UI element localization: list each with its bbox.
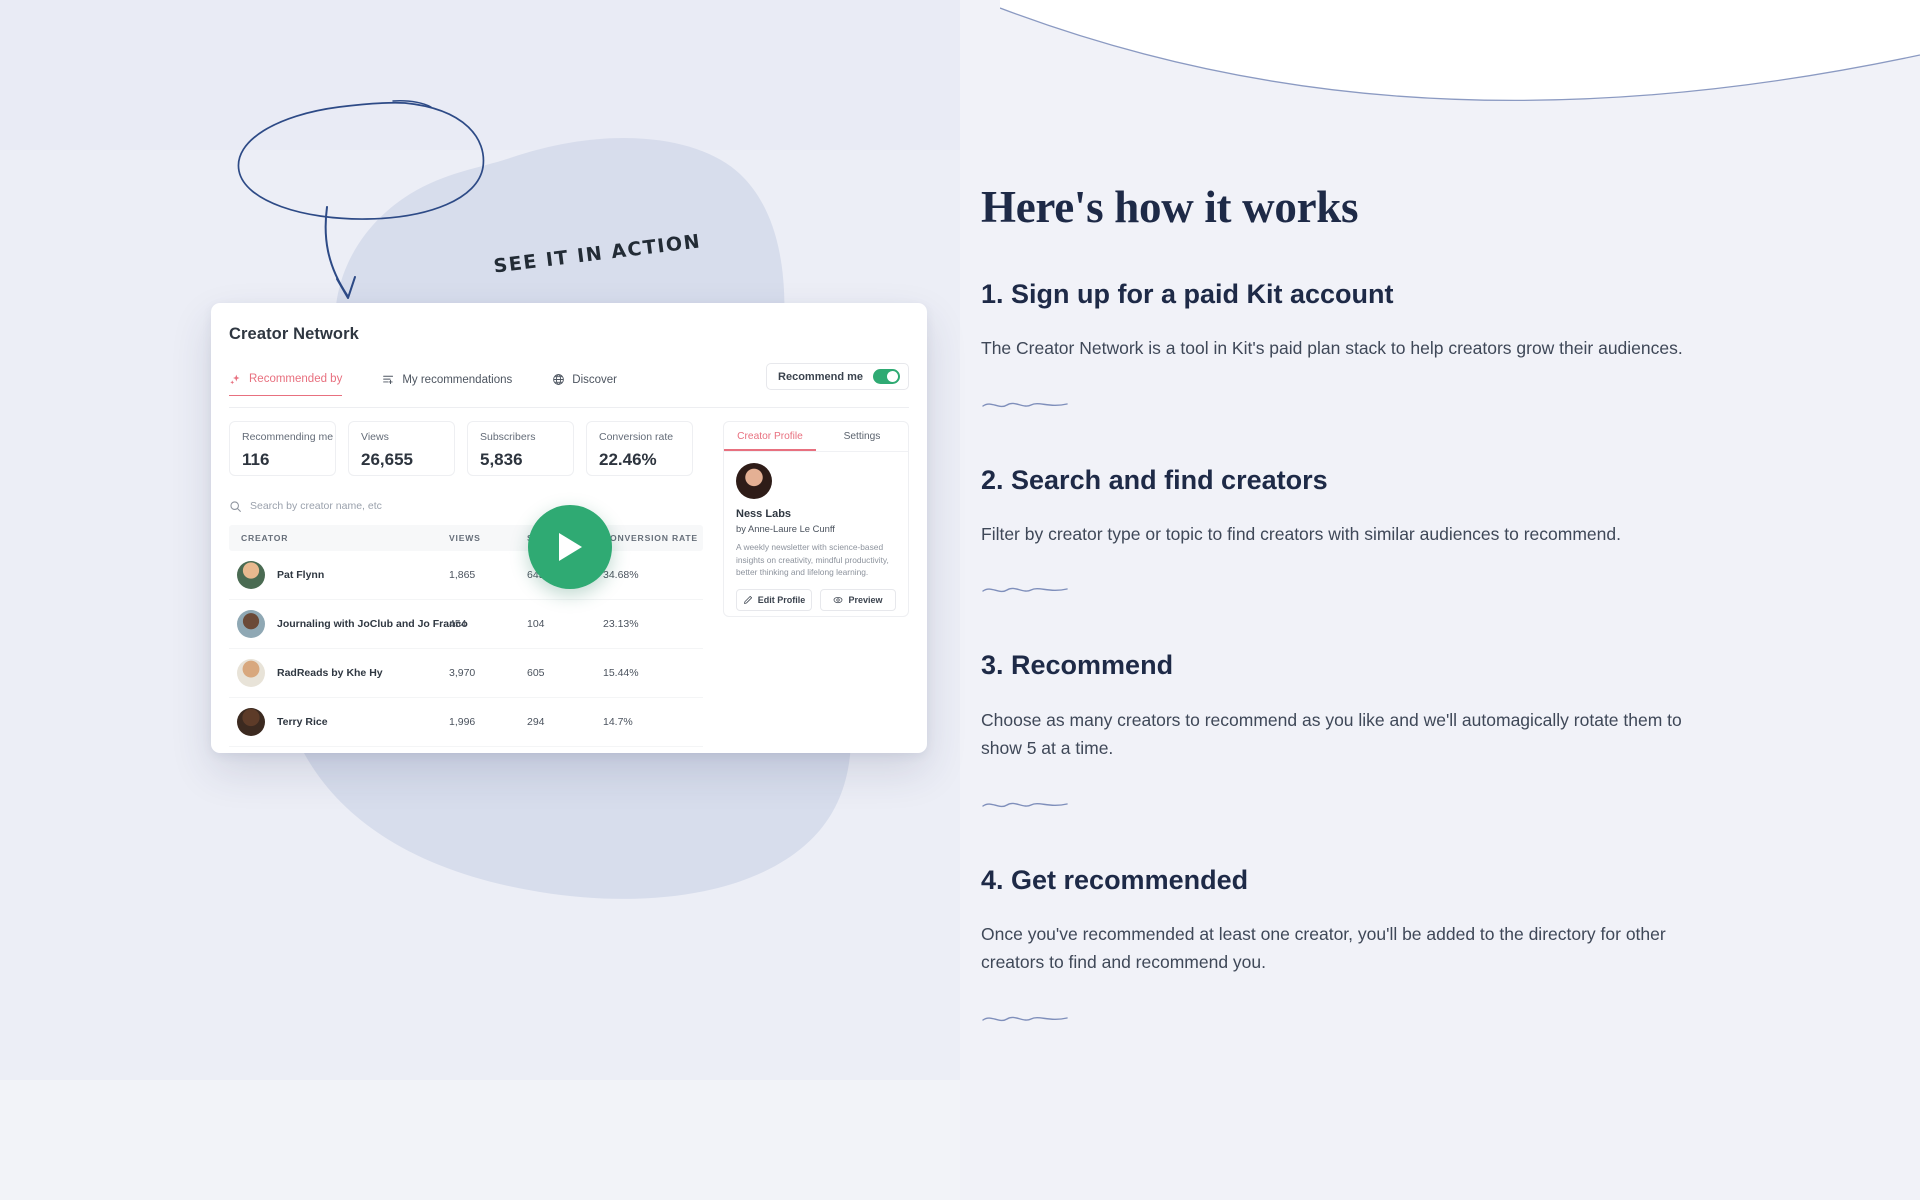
cell-creator: Pat Flynn [229,561,449,589]
table-header-row: CREATOR VIEWS SUBSCRIBERS CONVERSION RAT… [229,525,703,551]
creator-name: RadReads by Khe Hy [277,667,383,679]
column-header-creator: CREATOR [229,533,449,543]
step-1: 1. Sign up for a paid Kit account The Cr… [981,278,1741,416]
avatar [237,610,265,638]
search-bar[interactable]: Search by creator name, etc [229,493,703,519]
recommend-me-toggle[interactable]: Recommend me [766,363,909,390]
step-3: 3. Recommend Choose as many creators to … [981,649,1741,815]
stat-value: 22.46% [599,451,692,468]
button-label: Edit Profile [758,595,806,605]
stat-card-recommending-me: Recommending me 116 [229,421,336,476]
cell-views: 3,970 [449,667,527,679]
list-plus-icon [382,373,395,386]
step-title: 2. Search and find creators [981,464,1741,496]
tab-recommended-by[interactable]: Recommended by [229,373,342,396]
button-label: Preview [848,595,882,605]
tab-label: Creator Profile [737,431,803,442]
globe-icon [552,373,565,386]
cell-subscribers: 605 [527,667,603,679]
app-tab-bar: Recommended by My recommendations Discov… [229,369,617,399]
step-4: 4. Get recommended Once you've recommend… [981,864,1741,1030]
profile-action-buttons: Edit Profile Preview [736,589,896,611]
eye-icon [833,595,843,605]
cell-conversion-rate: 23.13% [603,618,703,630]
step-title: 4. Get recommended [981,864,1741,896]
tab-label: Recommended by [249,373,342,385]
cell-creator: RadReads by Khe Hy [229,659,449,687]
search-input[interactable]: Search by creator name, etc [250,500,382,512]
stats-row: Recommending me 116 Views 26,655 Subscri… [229,421,693,476]
stat-value: 116 [242,451,335,468]
tab-my-recommendations[interactable]: My recommendations [382,373,512,395]
how-it-works-section: Here's how it works 1. Sign up for a pai… [981,0,1741,1030]
recommend-me-label: Recommend me [778,371,863,383]
profile-byline: by Anne-Laure Le Cunff [736,523,896,534]
cell-views: 1,865 [449,569,527,581]
stat-card-conversion-rate: Conversion rate 22.46% [586,421,693,476]
cell-conversion-rate: 34.68% [603,569,703,581]
profile-description: A weekly newsletter with science-based i… [736,541,896,579]
toggle-knob [887,371,898,382]
squiggle-divider-icon [981,799,1069,811]
cell-subscribers: 104 [527,618,603,630]
step-title: 1. Sign up for a paid Kit account [981,278,1741,310]
step-body: Once you've recommended at least one cre… [981,920,1711,977]
step-title: 3. Recommend [981,649,1741,681]
play-video-button[interactable] [528,505,612,589]
curved-arrow-down-icon [293,203,383,313]
cell-conversion-rate: 14.7% [603,716,703,728]
column-header-views: VIEWS [449,533,527,543]
sparkles-icon [229,373,242,386]
table-row[interactable]: Terry Rice 1,996 294 14.7% [229,698,703,747]
app-title: Creator Network [229,325,359,344]
cell-creator: Journaling with JoClub and Jo Franco [229,610,449,638]
tab-bar-divider [229,407,909,408]
stat-label: Recommending me [242,432,335,443]
creator-profile-card: Creator Profile Settings Ness Labs by An… [723,421,909,617]
cell-views: 454 [449,618,527,630]
profile-name: Ness Labs [736,508,896,520]
stat-label: Subscribers [480,432,573,443]
toggle-switch[interactable] [873,369,900,384]
cell-views: 1,996 [449,716,527,728]
table-row[interactable]: Pat Flynn 1,865 645 34.68% [229,551,703,600]
tab-settings[interactable]: Settings [816,422,908,451]
tab-label: Settings [844,431,881,442]
avatar [736,463,772,499]
creator-name: Terry Rice [277,716,328,728]
squiggle-divider-icon [981,1013,1069,1025]
profile-body: Ness Labs by Anne-Laure Le Cunff A weekl… [724,452,908,611]
step-body: Choose as many creators to recommend as … [981,706,1711,763]
step-body: Filter by creator type or topic to find … [981,520,1711,548]
preview-button[interactable]: Preview [820,589,896,611]
table-row[interactable]: Journaling with JoClub and Jo Franco 454… [229,600,703,649]
cell-conversion-rate: 15.44% [603,667,703,679]
cell-creator: Terry Rice [229,708,449,736]
squiggle-divider-icon [981,399,1069,411]
page-title: Here's how it works [981,185,1741,230]
stat-card-views: Views 26,655 [348,421,455,476]
creators-table: CREATOR VIEWS SUBSCRIBERS CONVERSION RAT… [229,525,703,747]
search-icon [229,500,242,513]
squiggle-divider-icon [981,584,1069,596]
step-body: The Creator Network is a tool in Kit's p… [981,334,1711,362]
tab-label: My recommendations [402,374,512,386]
play-icon [555,531,585,563]
profile-tab-bar: Creator Profile Settings [724,422,908,452]
column-header-conversion-rate: CONVERSION RATE [603,533,703,543]
table-row[interactable]: RadReads by Khe Hy 3,970 605 15.44% [229,649,703,698]
avatar [237,708,265,736]
stat-label: Views [361,432,454,443]
tab-discover[interactable]: Discover [552,373,617,395]
stat-label: Conversion rate [599,432,692,443]
avatar [237,659,265,687]
see-it-in-action-annotation: SEE IT IN ACTION [215,95,515,315]
edit-profile-button[interactable]: Edit Profile [736,589,812,611]
tab-label: Discover [572,374,617,386]
pencil-icon [743,595,753,605]
avatar [237,561,265,589]
cell-subscribers: 294 [527,716,603,728]
creator-name: Pat Flynn [277,569,324,581]
creator-name: Journaling with JoClub and Jo Franco [277,618,468,630]
stat-value: 5,836 [480,451,573,468]
tab-creator-profile[interactable]: Creator Profile [724,422,816,451]
stat-card-subscribers: Subscribers 5,836 [467,421,574,476]
stat-value: 26,655 [361,451,454,468]
step-2: 2. Search and find creators Filter by cr… [981,464,1741,602]
